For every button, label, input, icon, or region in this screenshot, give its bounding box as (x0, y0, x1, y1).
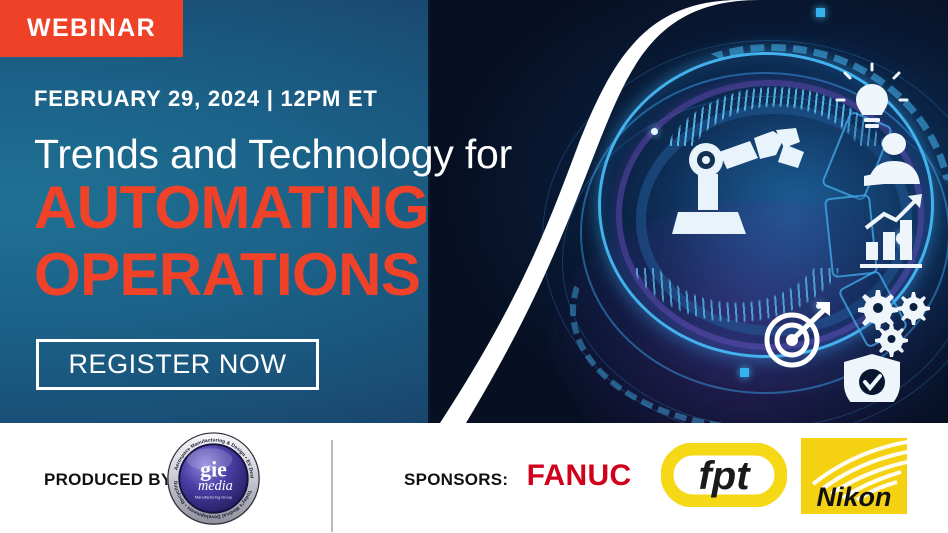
feature-icon-column (828, 62, 948, 402)
nikon-logo[interactable]: Nikon (801, 438, 907, 514)
gears-icon (858, 290, 930, 357)
hero-section: WEBINAR FEBRUARY 29, 2024 | 12PM ET Tren… (0, 0, 948, 423)
fpt-logo-text: fpt (698, 454, 751, 498)
register-now-label: REGISTER NOW (69, 349, 287, 380)
produced-by-label: PRODUCED BY: (44, 470, 177, 490)
shield-check-icon (844, 354, 900, 402)
hud-node-square (740, 368, 749, 377)
gie-media-logo[interactable]: Aerospace Manufacturing & Design • EV De… (166, 429, 261, 528)
headline-line-1: Trends and Technology for (34, 131, 512, 178)
gie-logo-name2: media (198, 478, 233, 494)
webinar-badge-label: WEBINAR (27, 14, 156, 43)
event-datetime: FEBRUARY 29, 2024 | 12PM ET (34, 86, 378, 112)
person-presenter-icon (864, 133, 920, 186)
footer-vertical-divider (331, 440, 333, 532)
target-arrow-icon (760, 300, 834, 372)
lightbulb-icon (837, 64, 907, 128)
register-now-button[interactable]: REGISTER NOW (36, 339, 319, 390)
hud-dot (651, 128, 658, 135)
bar-chart-icon (860, 194, 922, 268)
webinar-badge: WEBINAR (0, 0, 183, 57)
nikon-logo-text: Nikon (816, 482, 891, 512)
sponsors-label: SPONSORS: (404, 470, 508, 490)
hud-node-square (816, 8, 825, 17)
webinar-promo-banner: WEBINAR FEBRUARY 29, 2024 | 12PM ET Tren… (0, 0, 948, 533)
headline-line-3: OPERATIONS (34, 245, 420, 305)
gie-logo-tagline: Manufacturing Group (195, 494, 233, 499)
fpt-logo[interactable]: fpt (661, 443, 787, 507)
headline-line-2: AUTOMATING (34, 178, 429, 238)
fanuc-logo[interactable]: FANUC (518, 460, 640, 492)
robot-arm-icon (672, 128, 822, 258)
